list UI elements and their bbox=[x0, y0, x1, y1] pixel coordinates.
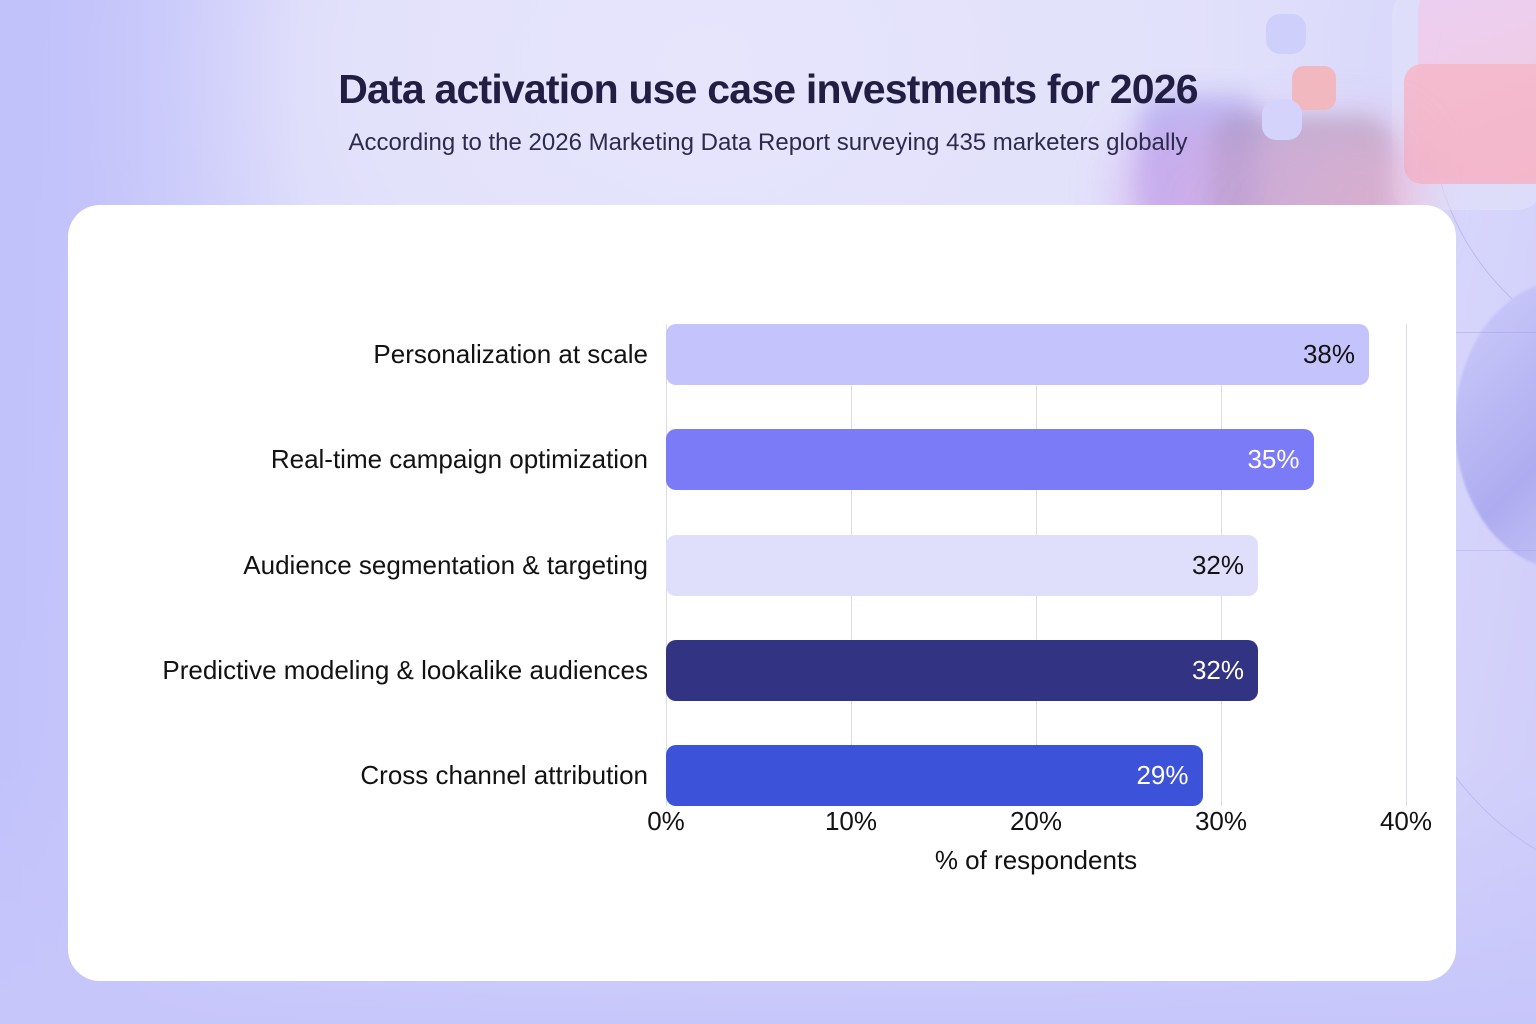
x-axis-tick-label: 40% bbox=[1380, 806, 1432, 837]
bar-row: Audience segmentation & targeting32% bbox=[666, 535, 1406, 596]
bar-category-label: Audience segmentation & targeting bbox=[243, 535, 648, 596]
x-axis-tick-label: 0% bbox=[647, 806, 685, 837]
bar-value-label: 32% bbox=[1192, 550, 1258, 581]
page-subtitle: According to the 2026 Marketing Data Rep… bbox=[0, 129, 1536, 157]
bar[interactable]: 35% bbox=[666, 429, 1314, 490]
bar-value-label: 38% bbox=[1303, 339, 1369, 370]
bar[interactable]: 32% bbox=[666, 640, 1258, 701]
bar-category-label: Cross channel attribution bbox=[360, 745, 648, 806]
bar-row: Predictive modeling & lookalike audience… bbox=[666, 640, 1406, 701]
bar-value-label: 35% bbox=[1247, 444, 1313, 475]
bar-row: Real-time campaign optimization35% bbox=[666, 429, 1406, 490]
x-axis-tick-label: 10% bbox=[825, 806, 877, 837]
bar-category-label: Personalization at scale bbox=[373, 324, 648, 385]
bar-value-label: 29% bbox=[1136, 760, 1202, 791]
bar-value-label: 32% bbox=[1192, 655, 1258, 686]
x-axis-tick-label: 20% bbox=[1010, 806, 1062, 837]
bar-rows: Personalization at scale38%Real-time cam… bbox=[666, 324, 1406, 806]
bar-category-label: Real-time campaign optimization bbox=[271, 429, 648, 490]
chart-header: Data activation use case investments for… bbox=[0, 0, 1536, 157]
gridline bbox=[1406, 324, 1407, 806]
bar-row: Personalization at scale38% bbox=[666, 324, 1406, 385]
bar[interactable]: 32% bbox=[666, 535, 1258, 596]
bar[interactable]: 38% bbox=[666, 324, 1369, 385]
bar-category-label: Predictive modeling & lookalike audience… bbox=[162, 640, 648, 701]
x-axis-title: % of respondents bbox=[666, 845, 1406, 876]
x-axis-tick-label: 30% bbox=[1195, 806, 1247, 837]
chart-card: Personalization at scale38%Real-time cam… bbox=[68, 205, 1456, 981]
bar[interactable]: 29% bbox=[666, 745, 1203, 806]
plot-area: Personalization at scale38%Real-time cam… bbox=[666, 324, 1406, 806]
page-title: Data activation use case investments for… bbox=[0, 66, 1536, 113]
bar-row: Cross channel attribution29% bbox=[666, 745, 1406, 806]
x-axis-ticks: 0%10%20%30%40% bbox=[666, 806, 1406, 840]
